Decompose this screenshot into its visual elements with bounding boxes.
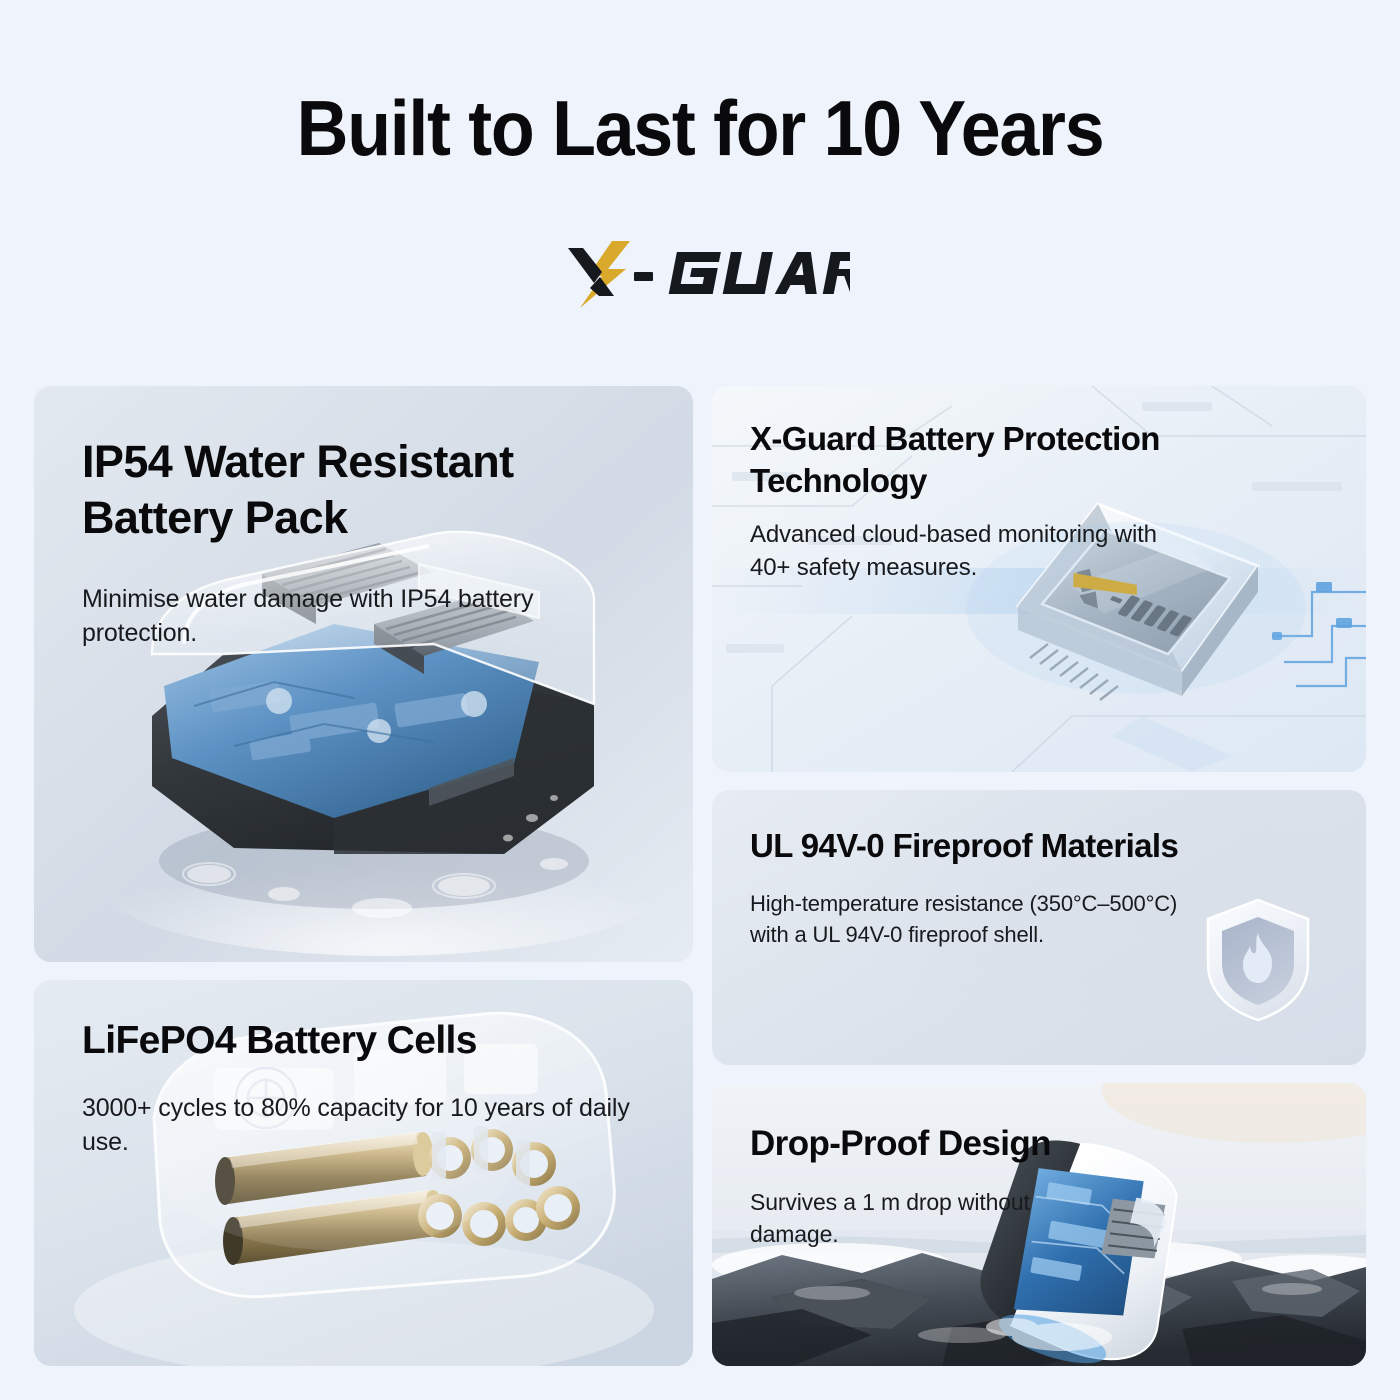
card-description: Minimise water damage with IP54 battery …: [82, 582, 652, 651]
card-xguard-protection-technology[interactable]: X-Guard Battery Protection Technology Ad…: [712, 386, 1366, 772]
card-title: UL 94V-0 Fireproof Materials: [750, 826, 1210, 866]
card-description: Advanced cloud-based monitoring with 40+…: [750, 519, 1180, 584]
card-title: Drop-Proof Design: [750, 1123, 1080, 1165]
card-lifepo4-battery-cells[interactable]: LiFePO4 Battery Cells 3000+ cycles to 80…: [34, 980, 693, 1366]
shield-flame-icon: [1202, 897, 1314, 1023]
card-drop-proof-design[interactable]: Drop-Proof Design Survives a 1 m drop wi…: [712, 1083, 1366, 1366]
card-ul94v0-fireproof-materials[interactable]: UL 94V-0 Fireproof Materials High-temper…: [712, 790, 1366, 1065]
infographic-page: Built to Last for 10 Years: [0, 0, 1400, 1400]
card-description: Survives a 1 m drop without damage.: [750, 1187, 1080, 1250]
card-title: IP54 Water Resistant Battery Pack: [82, 434, 652, 546]
card-description: High-temperature resistance (350°C–500°C…: [750, 888, 1210, 950]
card-title: X-Guard Battery Protection Technology: [750, 418, 1180, 501]
feature-card-grid: IP54 Water Resistant Battery Pack Minimi…: [34, 386, 1366, 1366]
brand-logo: [0, 236, 1400, 310]
card-ip54-water-resistant[interactable]: IP54 Water Resistant Battery Pack Minimi…: [34, 386, 693, 962]
page-title: Built to Last for 10 Years: [56, 88, 1344, 170]
card-title: LiFePO4 Battery Cells: [82, 1018, 662, 1065]
card-description: 3000+ cycles to 80% capacity for 10 year…: [82, 1091, 662, 1160]
